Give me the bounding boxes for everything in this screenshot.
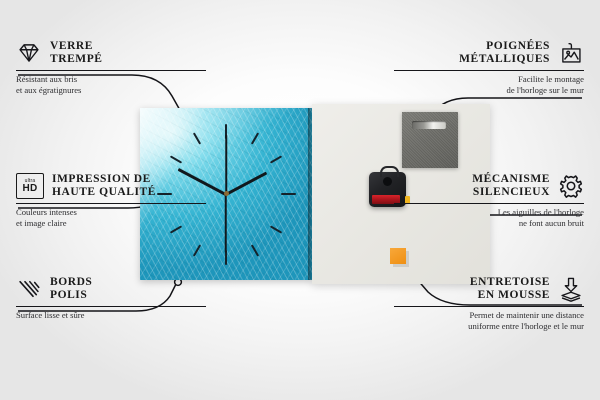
clock-tick (193, 244, 201, 256)
divider (16, 70, 206, 71)
divider (394, 70, 584, 71)
feature-title-line1: BORDS (50, 276, 92, 289)
clock-tick (270, 225, 282, 233)
clock-second-hand-tail (225, 135, 227, 195)
feature-subtitle-line2: ne font aucun bruit (379, 218, 584, 228)
feature-subtitle-line2: et aux égratignures (16, 85, 221, 95)
clock-tick (251, 132, 259, 144)
feature-subtitle-line2: et image claire (16, 218, 221, 228)
picture-hanger-icon (558, 40, 584, 66)
feature-poignees-metalliques: POIGNÉES MÉTALLIQUES Facilite le montage… (379, 40, 584, 95)
divider (394, 203, 584, 204)
hanger-slot (412, 121, 446, 129)
ultra-hd-icon-bottom-text: HD (22, 184, 37, 194)
feature-title-line1: IMPRESSION DE (52, 173, 156, 186)
clock-tick (170, 155, 182, 163)
feature-subtitle-line1: Permet de maintenir une distance (379, 310, 584, 320)
gear-icon (558, 173, 584, 199)
ultra-hd-icon: ultra HD (16, 173, 44, 199)
feature-title-line2: HAUTE QUALITÉ (52, 186, 156, 199)
divider (16, 203, 206, 204)
divider (16, 306, 206, 307)
clock-tick (193, 132, 201, 144)
feature-verre-trempe: VERRE TREMPÉ Résistant aux bris et aux é… (16, 40, 221, 95)
feature-subtitle-line1: Les aiguilles de l'horloge (379, 207, 584, 217)
feature-title-line2: EN MOUSSE (470, 289, 550, 302)
feature-title-line1: POIGNÉES (459, 40, 550, 53)
infographic-canvas: VERRE TREMPÉ Résistant aux bris et aux é… (0, 0, 600, 400)
feature-subtitle-line1: Résistant aux bris (16, 74, 221, 84)
feature-title-line1: VERRE (50, 40, 103, 53)
feature-subtitle-line1: Facilite le montage (379, 74, 584, 84)
metal-hanger-plate (402, 112, 458, 168)
clock-center-hub (224, 191, 229, 196)
feature-title-line2: POLIS (50, 289, 92, 302)
feature-subtitle-line1: Surface lisse et sûre (16, 310, 221, 320)
clock-tick (281, 193, 296, 195)
foam-spacer (390, 248, 406, 264)
feature-subtitle-line2: uniforme entre l'horloge et le mur (379, 321, 584, 331)
feature-entretoise-en-mousse: ENTRETOISE EN MOUSSE Permet de maintenir… (379, 276, 584, 331)
feature-title-line2: SILENCIEUX (472, 186, 550, 199)
divider (394, 306, 584, 307)
feature-impression-haute-qualite: ultra HD IMPRESSION DE HAUTE QUALITÉ Cou… (16, 173, 221, 228)
feature-bords-polis: BORDS POLIS Surface lisse et sûre (16, 276, 221, 321)
clock-tick (251, 244, 259, 256)
feature-subtitle-line2: de l'horloge sur le mur (379, 85, 584, 95)
feature-title-line1: ENTRETOISE (470, 276, 550, 289)
feature-title-line1: MÉCANISME (472, 173, 550, 186)
diamond-icon (16, 40, 42, 66)
feature-subtitle-line1: Couleurs intenses (16, 207, 221, 217)
clock-second-hand (225, 195, 227, 253)
feature-title-line2: TREMPÉ (50, 53, 103, 66)
polished-edges-icon (16, 276, 42, 302)
clock-tick (270, 155, 282, 163)
feature-title-line2: MÉTALLIQUES (459, 53, 550, 66)
arrow-down-layers-icon (558, 276, 584, 302)
feature-mecanisme-silencieux: MÉCANISME SILENCIEUX Les aiguilles de l'… (379, 173, 584, 228)
clock-hour-hand (225, 172, 267, 197)
